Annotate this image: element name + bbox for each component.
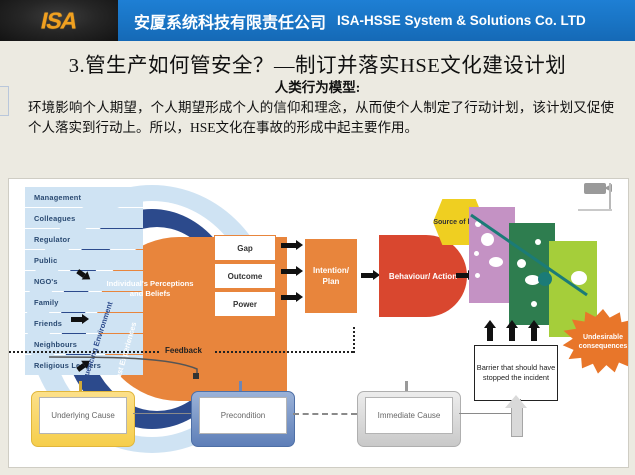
- header-bar: ISA 安厦系统科技有限责任公司 ISA-HSSE System & Solut…: [0, 0, 635, 41]
- company-name-en: ISA-HSSE System & Solutions Co. LTD: [337, 13, 586, 28]
- feedback-line-vertical: [353, 327, 355, 353]
- list-item: Management: [25, 187, 143, 207]
- immediate-cause-tick: [405, 381, 408, 391]
- slide: ISA 安厦系统科技有限责任公司 ISA-HSSE System & Solut…: [0, 0, 635, 475]
- behaviour-action-box: Behaviour/ Action: [379, 235, 467, 317]
- perceptions-label: Individual's Perceptions and Beliefs: [105, 279, 195, 299]
- behaviour-model-diagram: Management Colleagues Regulator Public N…: [8, 178, 629, 468]
- underlying-cause-label: Underlying Cause: [39, 397, 127, 434]
- immediate-cause-label: Immediate Cause: [365, 397, 453, 434]
- gap-to-intention-arrow: [281, 243, 296, 248]
- barrier-up-arrow: [531, 327, 537, 341]
- logo: ISA: [0, 0, 118, 41]
- barrier-up-arrow: [487, 327, 493, 341]
- behaviour-to-hazard-arrow: [456, 273, 468, 278]
- page-subtitle: 人类行为模型:: [0, 76, 635, 96]
- underlying-cause-box: Underlying Cause: [31, 391, 135, 447]
- outcome-to-intention-arrow: [281, 269, 296, 274]
- cause-connector-2: [293, 413, 357, 415]
- company-banner: 安厦系统科技有限责任公司 ISA-HSSE System & Solutions…: [118, 0, 635, 41]
- gop-boxes: Gap Outcome Power: [214, 235, 276, 319]
- list-item: Public: [25, 250, 143, 270]
- outcome-box: Outcome: [214, 263, 276, 289]
- barrier-box: Barrier that should have stopped the inc…: [474, 345, 558, 401]
- precondition-tick: [239, 381, 242, 391]
- precondition-box: Precondition: [191, 391, 295, 447]
- power-box: Power: [214, 291, 276, 317]
- underlying-cause-tick: [79, 381, 82, 391]
- camera-icon: [574, 181, 626, 221]
- barrier-up-arrow: [509, 327, 515, 341]
- feedback-line-right: [215, 351, 353, 353]
- harm-trajectory-line: [469, 209, 609, 329]
- power-to-intention-arrow: [281, 295, 296, 300]
- company-name-cn: 安厦系统科技有限责任公司: [134, 9, 326, 33]
- gap-box: Gap: [214, 235, 276, 261]
- list-item: Colleagues: [25, 208, 143, 228]
- immediate-cause-box: Immediate Cause: [357, 391, 461, 447]
- cause-connector-1: [133, 413, 191, 414]
- logo-text: ISA: [38, 7, 79, 34]
- body-paragraph: 环境影响个人期望，个人期望形成个人的信仰和理念，从而使个人制定了行动计划，该计划…: [28, 98, 614, 138]
- page-title: 3.管生产如何管安全？—制订并落实HSE文化建设计划: [0, 48, 635, 78]
- ring-inflow-arrow: [71, 317, 82, 322]
- escalation-arrow: [511, 407, 523, 437]
- precondition-label: Precondition: [199, 397, 287, 434]
- intention-plan-box: Intention/ Plan: [305, 239, 357, 313]
- list-item: Regulator: [25, 229, 143, 249]
- intention-to-behaviour-arrow: [361, 273, 373, 278]
